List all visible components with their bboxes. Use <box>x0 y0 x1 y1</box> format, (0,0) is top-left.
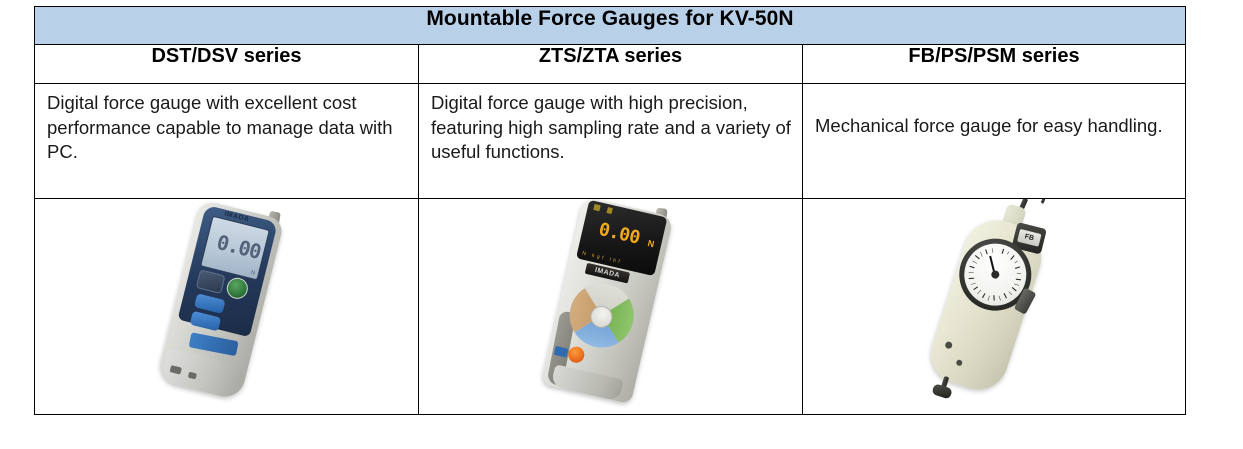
lcd-unit-label: N <box>250 270 255 277</box>
blue-key-upper <box>194 293 226 314</box>
tail-knob <box>931 383 952 399</box>
product-photo-dst-dsv: IMADA 0.00 N <box>35 199 418 411</box>
zts-zta-device-illustration: 0.00 N N kgf lbf IMADA <box>528 199 710 411</box>
product-image-cell-zts-zta: 0.00 N N kgf lbf IMADA <box>419 198 803 414</box>
force-gauge-comparison-table: Mountable Force Gauges for KV-50N DST/DS… <box>34 6 1186 415</box>
table-title-row: Mountable Force Gauges for KV-50N <box>35 7 1186 45</box>
product-image-cell-dst-dsv: IMADA 0.00 N <box>35 198 419 414</box>
description-cell-zts-zta: Digital force gauge with high precision,… <box>419 84 803 199</box>
display-reading-value: 0.00 <box>597 219 642 249</box>
series-header-dst-dsv: DST/DSV series <box>35 44 419 84</box>
series-label-dst-dsv: DST/DSV series <box>151 45 301 67</box>
front-panel: IMADA 0.00 N <box>178 205 278 337</box>
product-photo-fb-ps-psm: FB <box>803 199 1185 411</box>
lcd-screen: 0.00 N <box>200 215 270 280</box>
lcd-reading-value: 0.00 <box>214 230 263 264</box>
function-key <box>196 269 226 294</box>
series-header-fb-ps-psm: FB/PS/PSM series <box>803 44 1186 84</box>
description-text-dst-dsv: Digital force gauge with excellent cost … <box>35 84 418 168</box>
table-title-cell: Mountable Force Gauges for KV-50N <box>35 7 1186 45</box>
series-header-row: DST/DSV series ZTS/ZTA series FB/PS/PSM … <box>35 44 1186 84</box>
description-text-fb-ps-psm: Mechanical force gauge for easy handling… <box>803 84 1185 142</box>
power-button-icon <box>225 275 250 300</box>
force-gauge-comparison-table-wrapper: Mountable Force Gauges for KV-50N DST/DS… <box>34 6 1185 415</box>
display-unit-label: N <box>647 238 656 249</box>
product-image-row: IMADA 0.00 N <box>35 198 1186 414</box>
series-label-zts-zta: ZTS/ZTA series <box>539 45 682 67</box>
dst-dsv-device-illustration: IMADA 0.00 N <box>141 199 316 411</box>
description-text-zts-zta: Digital force gauge with high precision,… <box>419 84 802 168</box>
product-image-cell-fb-ps-psm: FB <box>803 198 1186 414</box>
product-photo-zts-zta: 0.00 N N kgf lbf IMADA <box>419 199 802 411</box>
series-header-zts-zta: ZTS/ZTA series <box>419 44 803 84</box>
model-label: FB <box>1017 229 1041 247</box>
fb-ps-psm-device-illustration: FB <box>897 199 1113 411</box>
description-cell-fb-ps-psm: Mechanical force gauge for easy handling… <box>803 84 1186 199</box>
description-row: Digital force gauge with excellent cost … <box>35 84 1186 199</box>
page-title: Mountable Force Gauges for KV-50N <box>426 7 793 30</box>
connector-port-aux <box>188 371 197 379</box>
description-cell-dst-dsv: Digital force gauge with excellent cost … <box>35 84 419 199</box>
series-label-fb-ps-psm: FB/PS/PSM series <box>908 45 1079 67</box>
